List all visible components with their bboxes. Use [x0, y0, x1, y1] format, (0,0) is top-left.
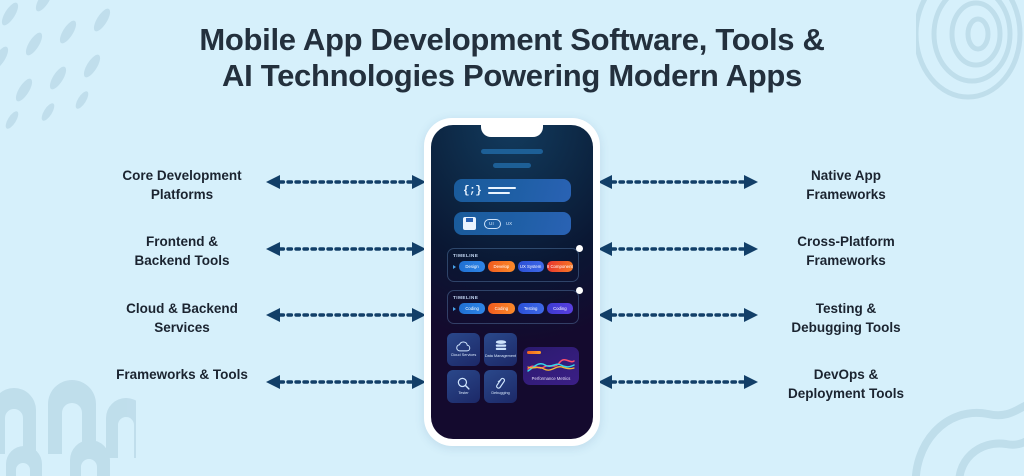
label-line: Frameworks: [736, 185, 956, 204]
phone-notch: [481, 125, 543, 137]
performance-metrics-card[interactable]: Performance Metrics: [523, 347, 579, 385]
page-title: Mobile App Development Software, Tools &…: [0, 22, 1024, 95]
label-line: Cross-Platform: [736, 232, 956, 251]
label-line: Platforms: [72, 185, 292, 204]
page-title-line-1: Mobile App Development Software, Tools &: [0, 22, 1024, 58]
connector-arrow-right-1: [598, 174, 758, 190]
timeline-pill[interactable]: UI Components: [547, 261, 573, 272]
tile-tester[interactable]: Tester: [447, 370, 480, 403]
ux-label: UX: [506, 221, 512, 226]
connector-arrow-left-4: [266, 374, 426, 390]
screen-title-bar: [481, 149, 543, 154]
code-card[interactable]: {;}: [454, 179, 571, 202]
label-line: Frameworks & Tools: [72, 365, 292, 384]
label-testing-debugging-tools: Testing & Debugging Tools: [736, 299, 956, 337]
phone-mockup: {;} UI UX TIMELINE Design Develop U: [424, 118, 600, 446]
connector-arrow-right-3: [598, 307, 758, 323]
feature-tile-grid: Cloud Services Data Management: [447, 333, 517, 403]
code-lines-graphic: [488, 187, 516, 194]
label-line: Deployment Tools: [736, 384, 956, 403]
label-frontend-backend-tools: Frontend & Backend Tools: [72, 232, 292, 270]
timeline-card-1: TIMELINE Design Develop UX System UI Com…: [447, 248, 579, 282]
caret-right-icon: [453, 307, 456, 311]
label-line: DevOps &: [736, 365, 956, 384]
tile-cloud-services[interactable]: Cloud Services: [447, 333, 480, 366]
metrics-tag: [527, 351, 541, 354]
label-line: Testing &: [736, 299, 956, 318]
wrench-icon: [494, 377, 507, 390]
tile-label: Data Management: [485, 355, 516, 359]
connector-arrow-right-4: [598, 374, 758, 390]
database-icon: [495, 340, 507, 353]
wave-chart-icon: [527, 356, 575, 374]
code-brackets-icon: {;}: [463, 185, 481, 197]
label-line: Core Development: [72, 166, 292, 185]
label-line: Frameworks: [736, 251, 956, 270]
connector-arrow-left-2: [266, 241, 426, 257]
tile-label: Tester: [458, 392, 468, 396]
label-line: Cloud & Backend: [72, 299, 292, 318]
timeline-pill[interactable]: Coding: [547, 303, 573, 314]
label-core-development-platforms: Core Development Platforms: [72, 166, 292, 204]
tile-data-management[interactable]: Data Management: [484, 333, 517, 366]
label-line: Services: [72, 318, 292, 337]
tile-label: Debugging: [491, 392, 509, 396]
save-disk-icon: [463, 217, 476, 230]
metrics-label: Performance Metrics: [523, 376, 579, 381]
timeline-heading: TIMELINE: [453, 295, 573, 300]
label-line: Debugging Tools: [736, 318, 956, 337]
label-cross-platform-frameworks: Cross-Platform Frameworks: [736, 232, 956, 270]
timeline-pill[interactable]: UX System: [518, 261, 544, 272]
timeline-pill[interactable]: Coding: [459, 303, 485, 314]
caret-right-icon: [453, 265, 456, 269]
tile-label: Cloud Services: [451, 354, 477, 358]
tile-debugging[interactable]: Debugging: [484, 370, 517, 403]
magnifier-icon: [457, 377, 470, 390]
connector-arrow-right-2: [598, 241, 758, 257]
label-devops-deployment-tools: DevOps & Deployment Tools: [736, 365, 956, 403]
cloud-icon: [456, 341, 471, 352]
label-cloud-backend-services: Cloud & Backend Services: [72, 299, 292, 337]
timeline-pill[interactable]: Coding: [488, 303, 514, 314]
timeline-pill-row: Design Develop UX System UI Components: [453, 261, 573, 272]
connector-arrow-left-1: [266, 174, 426, 190]
save-card[interactable]: UI UX: [454, 212, 571, 235]
label-native-app-frameworks: Native App Frameworks: [736, 166, 956, 204]
phone-screen: {;} UI UX TIMELINE Design Develop U: [431, 125, 593, 439]
label-line: Native App: [736, 166, 956, 185]
page-title-line-2: AI Technologies Powering Modern Apps: [0, 58, 1024, 94]
label-frameworks-tools: Frameworks & Tools: [72, 365, 292, 384]
timeline-dot: [576, 245, 583, 252]
timeline-pill-row: Coding Coding Testing Coding: [453, 303, 573, 314]
timeline-dot: [576, 287, 583, 294]
timeline-pill[interactable]: Develop: [488, 261, 514, 272]
label-line: Backend Tools: [72, 251, 292, 270]
connector-arrow-left-3: [266, 307, 426, 323]
screen-subtitle-bar: [493, 163, 531, 168]
ui-toggle[interactable]: UI: [484, 219, 501, 229]
infographic-canvas: Mobile App Development Software, Tools &…: [0, 0, 1024, 476]
timeline-heading: TIMELINE: [453, 253, 573, 258]
timeline-card-2: TIMELINE Coding Coding Testing Coding: [447, 290, 579, 324]
timeline-pill[interactable]: Testing: [518, 303, 544, 314]
label-line: Frontend &: [72, 232, 292, 251]
timeline-pill[interactable]: Design: [459, 261, 485, 272]
